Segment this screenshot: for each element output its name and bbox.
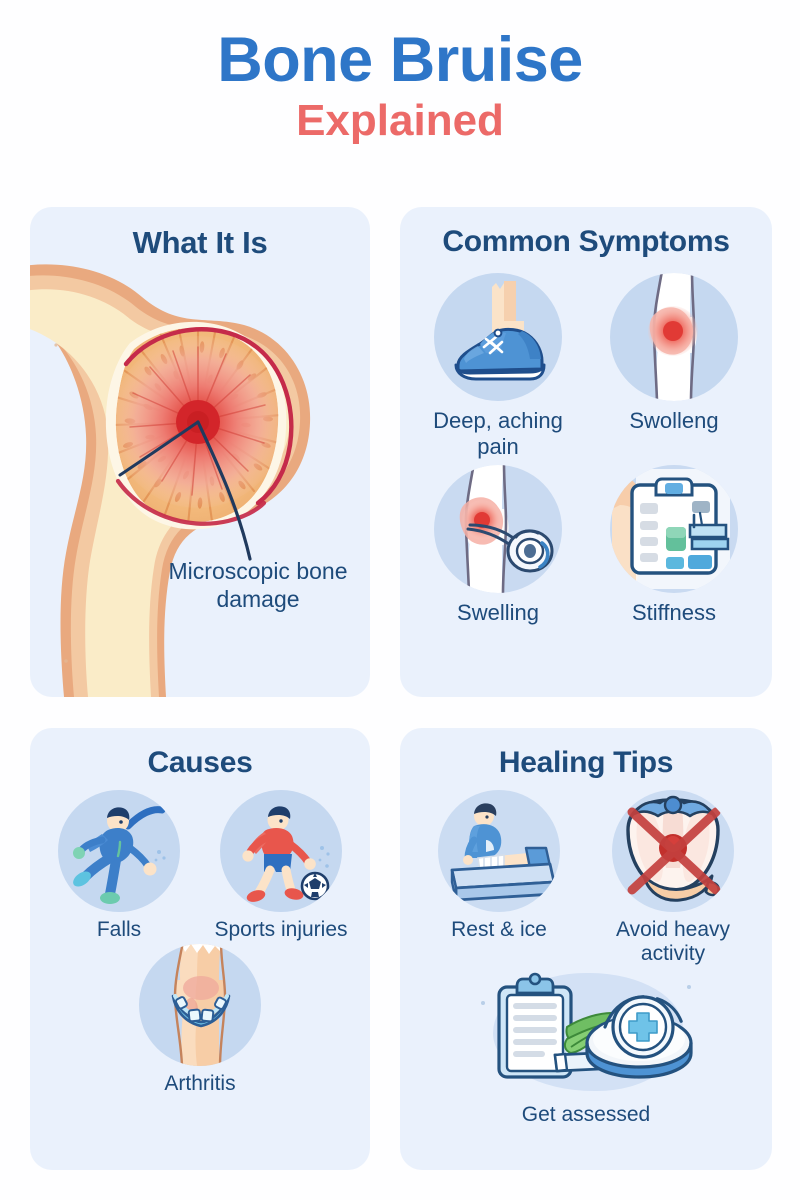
page-subtitle: Explained: [0, 96, 800, 147]
tip-item-get-assessed[interactable]: Get assessed: [412, 969, 760, 1127]
symptom-item-swollen[interactable]: Swolleng: [586, 273, 762, 459]
symptom-label-stiffness: Stiffness: [632, 600, 716, 626]
symptom-label-swollen: Swolleng: [629, 408, 718, 434]
tip-label-rest: Rest & ice: [451, 918, 547, 942]
cause-item-arthritis[interactable]: Arthritis: [38, 944, 362, 1096]
card-healing-tips: Healing Tips: [400, 728, 772, 1170]
card-common-symptoms: Common Symptoms: [400, 207, 772, 697]
tip-label-get-assessed: Get assessed: [522, 1103, 650, 1127]
tip-item-avoid-heavy[interactable]: Avoid heavy activity: [586, 790, 760, 967]
bone-damage-callout-label: Microscopic bone damage: [158, 557, 358, 613]
card-what-it-is: What It Is: [30, 207, 370, 697]
soccer-player-icon: [220, 790, 342, 912]
symptom-item-swelling[interactable]: Swelling: [410, 465, 586, 626]
card-grid: What It Is: [30, 207, 772, 1170]
foot-in-sneaker-icon: [434, 273, 562, 401]
symptom-item-stiffness[interactable]: Stiffness: [586, 465, 762, 626]
causes-icon-grid: Falls: [38, 790, 362, 1097]
symptom-label-swelling: Swelling: [457, 600, 539, 626]
bone-cross-section-illustration: [30, 259, 370, 697]
clipboard-xray-icon: [610, 465, 738, 593]
page-title: Bone Bruise: [0, 26, 800, 94]
card-title-what-it-is: What It Is: [30, 207, 370, 261]
cause-item-sports[interactable]: Sports injuries: [200, 790, 362, 942]
tip-label-avoid-heavy: Avoid heavy activity: [593, 918, 753, 967]
arthritic-knee-joint-icon: [139, 944, 261, 1066]
clipboard-and-medical-kit-icon: [471, 969, 701, 1097]
person-resting-leg-elevated-icon: [438, 790, 560, 912]
cause-label-falls: Falls: [97, 918, 141, 942]
symptom-item-pain[interactable]: Deep, aching pain: [410, 273, 586, 459]
knee-with-ice-pack-icon: [434, 465, 562, 593]
card-causes: Causes: [30, 728, 370, 1170]
symptom-label-pain: Deep, aching pain: [418, 408, 578, 459]
person-falling-icon: [58, 790, 180, 912]
tip-item-rest[interactable]: Rest & ice: [412, 790, 586, 967]
cause-item-falls[interactable]: Falls: [38, 790, 200, 942]
card-title-causes: Causes: [30, 728, 370, 780]
card-title-common-symptoms: Common Symptoms: [400, 207, 772, 259]
page-header: Bone Bruise Explained: [0, 0, 800, 147]
healing-tips-icon-grid: Rest & ice: [412, 790, 760, 1127]
swollen-knee-icon: [610, 273, 738, 401]
symptoms-icon-grid: Deep, aching pain: [410, 273, 762, 626]
no-heavy-lifting-icon: [612, 790, 734, 912]
card-title-healing-tips: Healing Tips: [400, 728, 772, 780]
cause-label-arthritis: Arthritis: [164, 1072, 235, 1096]
cause-label-sports: Sports injuries: [214, 918, 347, 942]
